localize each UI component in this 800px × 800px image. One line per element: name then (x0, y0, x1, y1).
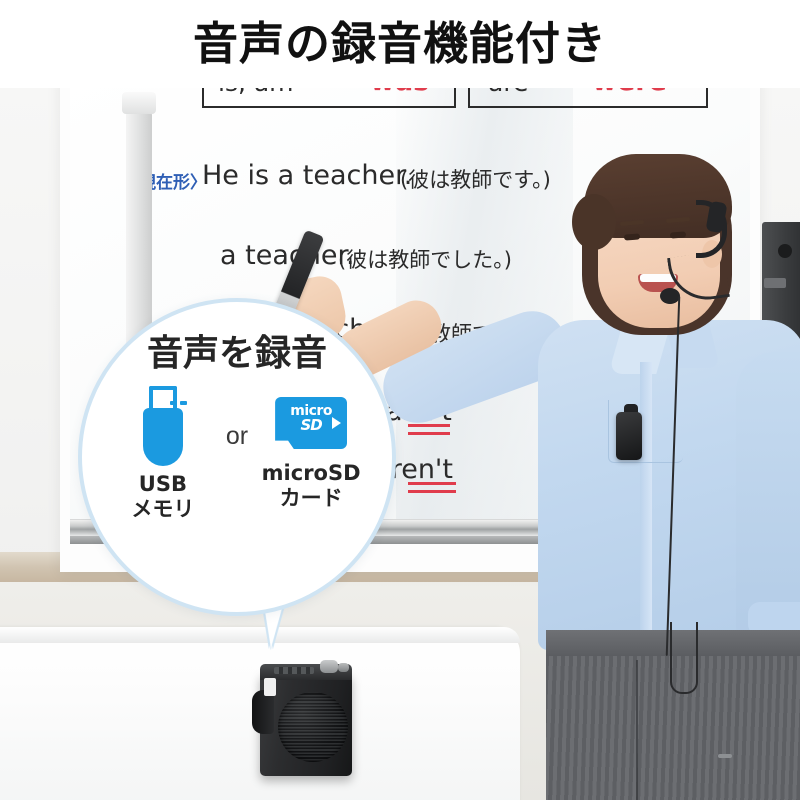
whiteboard-negative-1-underline-a (408, 424, 450, 427)
skirt-seam (636, 660, 638, 800)
usb-body (143, 408, 183, 466)
callout-bubble: 音声を録音 USB メモリ (78, 298, 396, 616)
pa-speaker-side-clip (264, 678, 276, 696)
usb-pin-1 (170, 401, 177, 405)
whiteboard-line1-english: He is a teacher. (202, 160, 412, 191)
media-option-usb: USB メモリ (110, 386, 216, 522)
whiteboard-line2-english: a teacher. (220, 240, 355, 271)
presenter-hair-bun (572, 194, 616, 250)
microsd-triangle-mark (332, 417, 341, 429)
pa-speaker-grille (278, 692, 348, 762)
product-photo: is, am → was are → were 〈現在形〉 He is a te… (0, 82, 800, 800)
microsd-label-line1: microSD (262, 461, 361, 486)
callout-media-row: USB メモリ or micro SD (110, 386, 364, 522)
media-option-microsd: micro SD microSD カード (258, 397, 364, 511)
header-band: 音声の録音機能付き (0, 0, 800, 88)
pa-speaker-secondary-knob (338, 663, 349, 672)
usb-label-line1: USB (131, 472, 194, 497)
whiteboard-line2-japanese: (彼は教師でした。) (338, 244, 512, 274)
usb-pin-2 (180, 401, 187, 405)
whiteboard-negative-2-underline-b (408, 490, 456, 493)
product-feature-banner: 音声の録音機能付き is, am → was are → were 〈現在形〉 (0, 0, 800, 800)
belt-pack-transmitter-icon (616, 412, 642, 460)
whiteboard-negative-1-underline-b (408, 432, 450, 435)
page-title: 音声の録音機能付き (193, 22, 607, 67)
pa-speaker-volume-knob (320, 660, 338, 673)
usb-label-line2: メモリ (131, 497, 194, 522)
portable-pa-speaker (252, 660, 356, 776)
whiteboard-negative-2-underline-a (408, 482, 456, 485)
presenter-eye-left (624, 233, 640, 240)
transmitter-indicator (718, 754, 732, 758)
headset-microphone-icon (660, 288, 680, 304)
or-separator: or (226, 422, 248, 451)
callout-title: 音声を録音 (147, 336, 327, 372)
usb-label: USB メモリ (131, 472, 194, 522)
microsd-label-line2: カード (262, 486, 361, 511)
presenter (520, 82, 800, 800)
presenter-eye-right (670, 231, 686, 238)
usb-flash-drive-icon (138, 386, 188, 466)
pa-speaker-ports (274, 667, 314, 674)
pa-speaker-strap (252, 690, 274, 734)
whiteboard-stand-cap (122, 92, 156, 114)
microsd-card-icon: micro SD (275, 397, 347, 455)
headset-cable-loop (670, 622, 698, 694)
microsd-label: microSD カード (262, 461, 361, 511)
